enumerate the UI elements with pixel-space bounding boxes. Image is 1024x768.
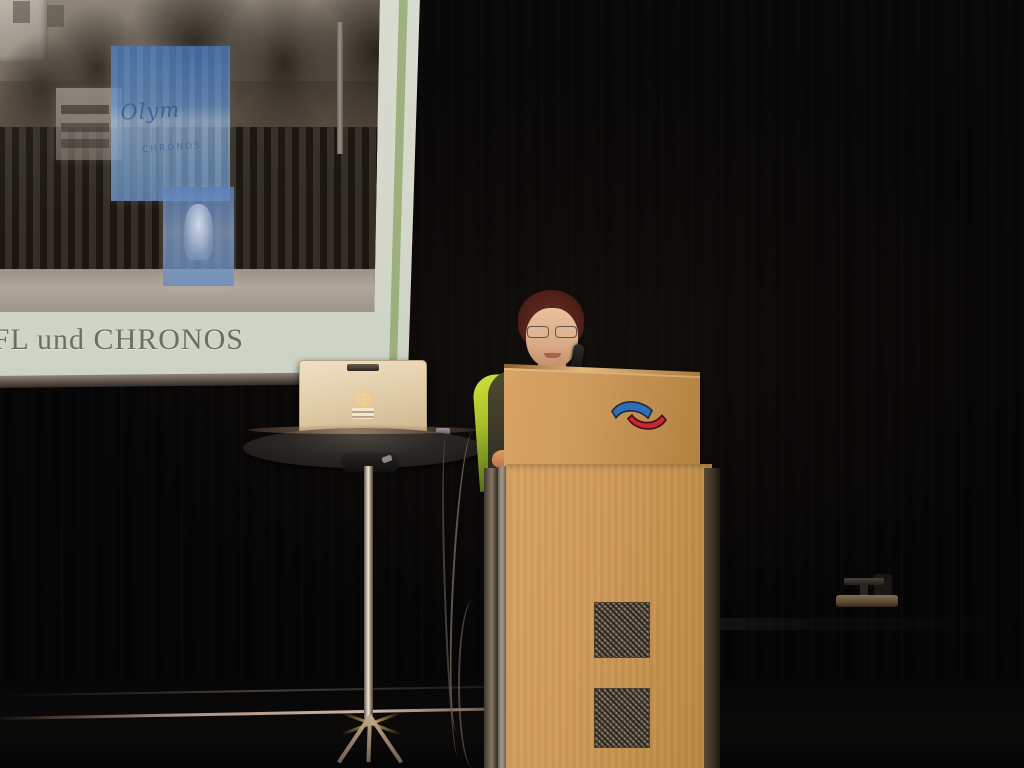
speaker-grille <box>594 602 650 658</box>
speaker-grille <box>594 688 650 748</box>
glasses-icon <box>526 326 578 337</box>
podium-top-panel <box>504 368 700 476</box>
slide-caption: VFL und CHRONOS <box>0 318 374 362</box>
mouth <box>544 353 561 358</box>
slide-pole <box>337 22 344 154</box>
stage-light-base <box>836 595 898 607</box>
slide-inset-script-text: Olym <box>120 95 225 147</box>
podium-side-panel <box>704 468 720 768</box>
power-logo-icon <box>357 393 370 406</box>
slide-inset-lower <box>163 187 235 286</box>
laptop-badge <box>352 408 374 419</box>
projected-slide: Olym CHRONOS <box>0 0 380 312</box>
wave-logo-icon <box>608 393 670 442</box>
podium <box>492 372 728 768</box>
stage-light <box>836 574 900 610</box>
projection-screen: Olym CHRONOS VFL und CHRONOS <box>0 0 420 384</box>
podium-front-panel <box>506 464 712 768</box>
webcam-icon <box>347 364 379 371</box>
tripod-pole <box>364 466 373 724</box>
face <box>526 308 578 368</box>
photo-scene: Olym CHRONOS VFL und CHRONOS <box>0 0 1024 768</box>
背-post <box>484 468 498 768</box>
slide-inset-main: Olym CHRONOS <box>111 46 230 201</box>
